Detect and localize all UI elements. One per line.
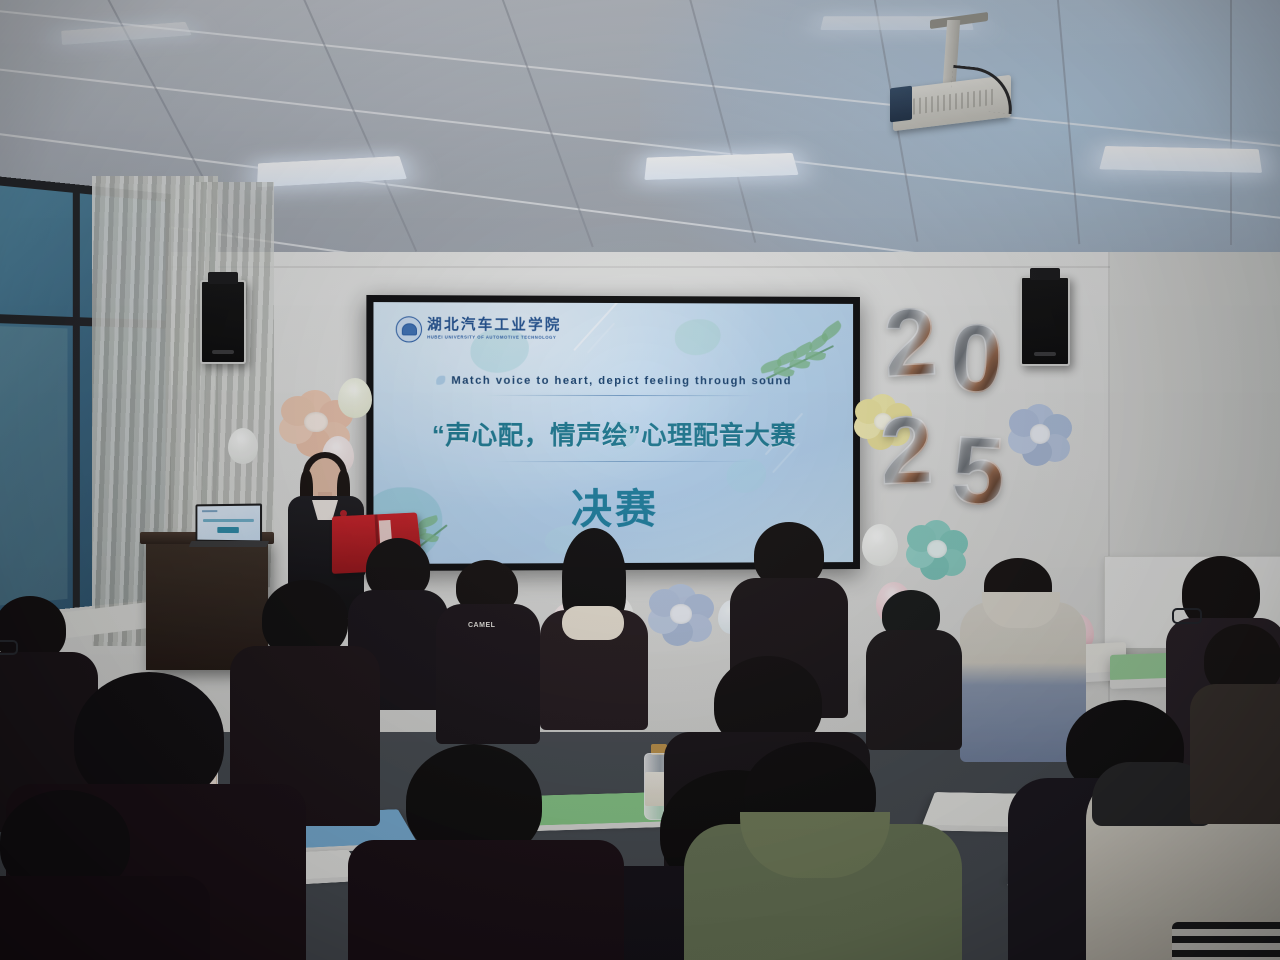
- university-name-cn: 湖北汽车工业学院: [427, 319, 561, 334]
- eyeglasses-icon: [0, 640, 18, 655]
- title-divider: [493, 461, 753, 462]
- teal-balloon-flower: [908, 522, 966, 576]
- blue-balloon-flower: [1010, 406, 1070, 462]
- projector-cable: [949, 65, 1016, 114]
- slide-stage-text: 决赛: [571, 486, 659, 532]
- university-crest-icon: [396, 316, 422, 342]
- audience-member: CAMEL: [440, 560, 536, 730]
- presenter-laptop: [194, 504, 264, 549]
- blue-balloon-flower: [650, 586, 712, 642]
- balloon: [228, 428, 258, 464]
- wall-speaker: [200, 280, 246, 364]
- wall-speaker: [1020, 276, 1070, 366]
- ceiling-projector: [893, 66, 1011, 124]
- projector-lens: [890, 86, 912, 123]
- audience-member: [1196, 624, 1280, 804]
- hoodie-brand-text: CAMEL: [468, 622, 495, 629]
- university-logo: 湖北汽车工业学院 HUBEI UNIVERSITY OF AUTOMOTIVE …: [396, 316, 562, 343]
- balloon-digit-2: 2: [878, 403, 934, 500]
- balloon-digit-5: 5: [950, 423, 1008, 521]
- subtitle-divider: [487, 395, 757, 397]
- slide-subtitle-row: Match voice to heart, depict feeling thr…: [373, 375, 853, 388]
- slide-title-cn: “声心配，情声绘”心理配音大赛: [373, 415, 853, 452]
- striped-collar: [1172, 922, 1280, 960]
- slide-blob: [675, 319, 721, 355]
- university-name-en: HUBEI UNIVERSITY OF AUTOMOTIVE TECHNOLOG…: [427, 336, 561, 341]
- balloon-digit-0: 0: [948, 311, 1004, 408]
- scarf: [562, 606, 624, 640]
- eyeglasses-icon: [1172, 608, 1202, 624]
- balloon: [338, 378, 372, 418]
- slide-subtitle-en: Match voice to heart, depict feeling thr…: [451, 375, 792, 388]
- audience-member: [372, 744, 592, 960]
- quote-mark-icon: [436, 376, 445, 385]
- balloon-digit-2: 2: [882, 295, 940, 393]
- ceiling-light-panel: [1099, 146, 1262, 173]
- ceiling-light-panel: [61, 22, 191, 45]
- audience-member: [0, 790, 190, 960]
- audience-member: [546, 528, 642, 708]
- photo-scene: 湖北汽车工业学院 HUBEI UNIVERSITY OF AUTOMOTIVE …: [0, 0, 1280, 960]
- balloon: [862, 524, 898, 566]
- audience-member: [700, 742, 940, 960]
- audience-member: [868, 590, 958, 740]
